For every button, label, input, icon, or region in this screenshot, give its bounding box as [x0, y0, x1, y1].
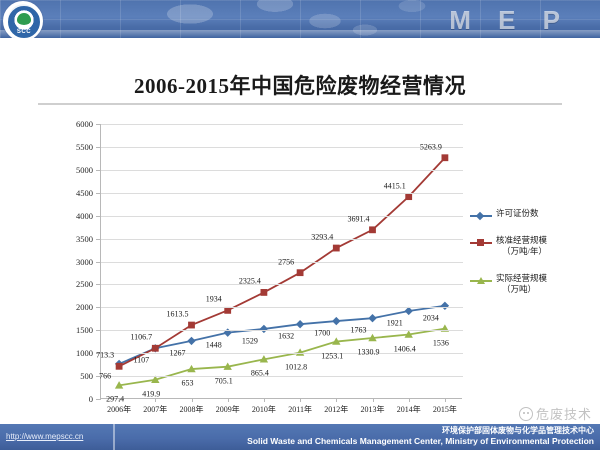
y-axis-label: 5000: [76, 165, 93, 175]
chart-gridline: [101, 170, 463, 171]
footer-org-english: Solid Waste and Chemicals Management Cen…: [247, 436, 594, 446]
chart-data-label: 2325.4: [239, 277, 261, 286]
x-axis-label: 2008年: [180, 404, 204, 415]
chart-data-label: 4415.1: [384, 181, 406, 190]
watermark: 危废技术: [480, 404, 592, 424]
x-axis-tick: [155, 398, 156, 402]
chart-data-label: 1529: [242, 336, 258, 345]
chart-data-point: [332, 317, 340, 325]
y-axis-label: 2500: [76, 279, 93, 289]
y-axis-label: 1000: [76, 348, 93, 358]
x-axis-tick: [192, 398, 193, 402]
x-axis-tick: [373, 398, 374, 402]
legend-marker-icon: [470, 238, 492, 247]
x-axis-label: 2014年: [397, 404, 421, 415]
legend-item[interactable]: 核准经营规模（万吨/年）: [470, 235, 595, 257]
logo-leaf: [17, 13, 31, 25]
chart-data-point: [187, 337, 195, 345]
legend-label: 许可证份数: [496, 208, 595, 219]
footer-divider: [113, 424, 115, 450]
y-axis-tick: [96, 262, 101, 263]
chart-data-point: [152, 345, 159, 352]
y-axis-tick: [96, 330, 101, 331]
chart-data-point: [442, 154, 449, 161]
legend-marker-icon: [470, 211, 492, 220]
chart-data-label: 1330.9: [358, 348, 380, 357]
chart-data-label: 1107: [133, 356, 149, 365]
chart-data-label: 1613.5: [167, 310, 189, 319]
y-axis-tick: [96, 170, 101, 171]
y-axis-label: 1500: [76, 325, 93, 335]
chart-data-label: 1267: [170, 348, 186, 357]
chart-gridline: [101, 239, 463, 240]
footer-bar: http://www.mepscc.cn 环境保护部固体废物与化学品管理技术中心…: [0, 424, 600, 450]
y-axis-label: 5500: [76, 142, 93, 152]
chart-gridline: [101, 193, 463, 194]
x-axis-tick: [336, 398, 337, 402]
footer-website-link[interactable]: http://www.mepscc.cn: [6, 432, 83, 441]
mep-wordmark: M E P: [449, 5, 570, 36]
x-axis-label: 2011年: [288, 404, 312, 415]
chart-data-point: [261, 289, 268, 296]
y-axis-label: 4000: [76, 211, 93, 221]
watermark-text: 危废技术: [536, 407, 592, 422]
y-axis-tick: [96, 216, 101, 217]
x-axis-tick: [300, 398, 301, 402]
y-axis-label: 2000: [76, 302, 93, 312]
y-axis-tick: [96, 284, 101, 285]
slide-root: M E P SCC 2006-2015年中国危险废物经营情况 050010001…: [0, 0, 600, 450]
top-banner: M E P SCC: [0, 0, 600, 38]
footer-org-chinese: 环境保护部固体废物与化学品管理技术中心: [442, 425, 594, 436]
chart-data-label: 2756: [278, 257, 294, 266]
chart-gridline: [101, 307, 463, 308]
chart-gridline: [101, 376, 463, 377]
chart-data-point: [368, 314, 376, 322]
chart-data-label: 766: [99, 371, 111, 380]
chart-data-point: [116, 363, 123, 370]
y-axis-label: 500: [80, 371, 93, 381]
chart-data-label: 297.4: [106, 395, 124, 404]
chart-data-label: 713.3: [96, 351, 114, 360]
chart-data-label: 1700: [314, 329, 330, 338]
chart-data-point: [405, 193, 412, 200]
legend-label-unit: （万吨/年）: [496, 246, 595, 257]
y-axis-label: 0: [89, 394, 93, 404]
logo-abbrev: SCC: [4, 29, 43, 35]
chart-data-label: 5263.9: [420, 142, 442, 151]
chart-gridline: [101, 147, 463, 148]
chart-data-label: 1763: [351, 326, 367, 335]
legend-label-unit: （万吨）: [496, 284, 595, 295]
chart-data-label: 865.4: [251, 369, 269, 378]
legend-label: 实际经营规模（万吨）: [496, 273, 595, 295]
legend-item[interactable]: 许可证份数: [470, 208, 595, 219]
chart-data-label: 2034: [423, 313, 439, 322]
x-axis-tick: [445, 398, 446, 402]
chart-data-label: 1536: [433, 338, 449, 347]
chart-container: 0500100015002000250030003500400045005000…: [0, 112, 600, 407]
chart-data-label: 419.9: [142, 389, 160, 398]
chart-gridline: [101, 284, 463, 285]
y-axis-label: 3500: [76, 234, 93, 244]
chart-data-point: [260, 325, 268, 333]
chart-data-point: [188, 322, 195, 329]
chart-gridline: [101, 353, 463, 354]
y-axis-tick: [96, 124, 101, 125]
y-axis-label: 6000: [76, 119, 93, 129]
y-axis-tick: [96, 239, 101, 240]
x-axis-tick: [228, 398, 229, 402]
x-axis-label: 2013年: [361, 404, 385, 415]
chart-data-label: 1632: [278, 332, 294, 341]
x-axis-label: 2009年: [216, 404, 240, 415]
chart-plot-area: 0500100015002000250030003500400045005000…: [100, 124, 462, 399]
chart-data-label: 1934: [206, 295, 222, 304]
watermark-icon: [519, 407, 533, 421]
x-axis-tick: [264, 398, 265, 402]
chart-data-point: [441, 302, 449, 310]
y-axis-tick: [96, 193, 101, 194]
chart-data-point: [296, 320, 304, 328]
chart-gridline: [101, 216, 463, 217]
legend-label: 核准经营规模（万吨/年）: [496, 235, 595, 257]
chart-data-label: 1106.7: [130, 333, 152, 342]
legend-marker-icon: [470, 276, 492, 285]
x-axis-label: 2012年: [324, 404, 348, 415]
chart-data-label: 1921: [387, 318, 403, 327]
chart-data-point: [333, 245, 340, 252]
y-axis-label: 4500: [76, 188, 93, 198]
chart-data-point: [369, 226, 376, 233]
chart-gridline: [101, 124, 463, 125]
chart-data-label: 1448: [206, 340, 222, 349]
y-axis-label: 3000: [76, 257, 93, 267]
chart-data-label: 653: [182, 379, 194, 388]
y-axis-tick: [96, 307, 101, 308]
page-title: 2006-2015年中国危险废物经营情况: [0, 70, 600, 100]
x-axis-label: 2015年: [433, 404, 457, 415]
chart-data-label: 1406.4: [394, 344, 416, 353]
chart-data-label: 705.1: [215, 376, 233, 385]
x-axis-label: 2006年: [107, 404, 131, 415]
x-axis-label: 2007年: [143, 404, 167, 415]
chart-data-label: 1012.8: [285, 362, 307, 371]
x-axis-label: 2010年: [252, 404, 276, 415]
scc-logo-icon: SCC: [3, 1, 43, 38]
y-axis-tick: [96, 399, 101, 400]
chart-data-label: 3691.4: [348, 214, 370, 223]
x-axis-tick: [409, 398, 410, 402]
chart-data-label: 3293.4: [311, 233, 333, 242]
chart-legend: 许可证份数核准经营规模（万吨/年）实际经营规模（万吨）: [470, 208, 595, 311]
legend-item[interactable]: 实际经营规模（万吨）: [470, 273, 595, 295]
title-divider: [38, 103, 562, 105]
chart-data-point: [297, 269, 304, 276]
y-axis-tick: [96, 147, 101, 148]
chart-data-label: 1253.1: [321, 351, 343, 360]
